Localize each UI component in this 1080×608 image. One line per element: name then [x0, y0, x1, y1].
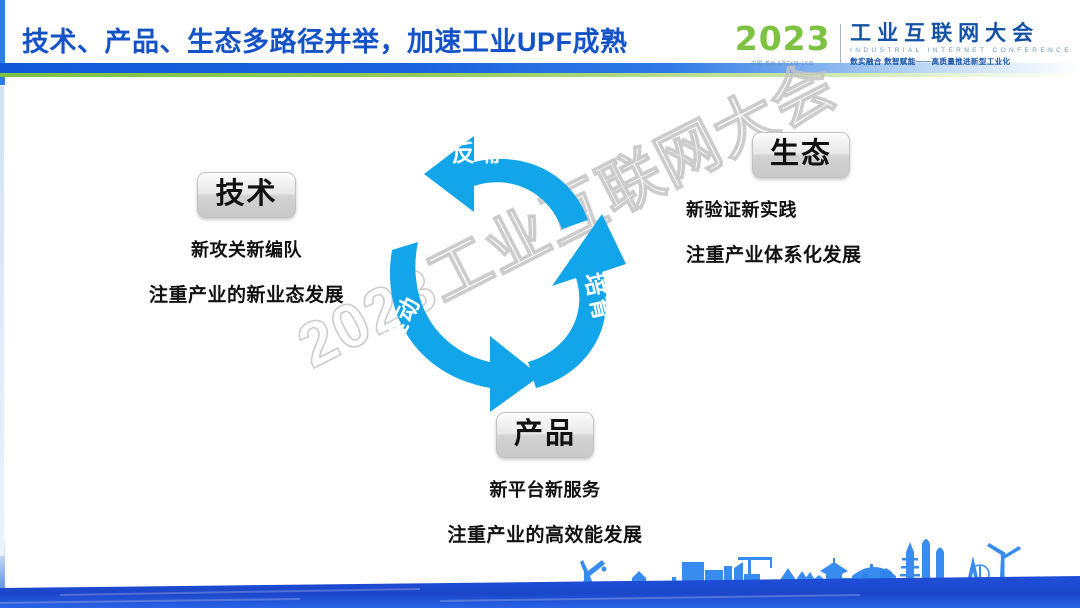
- conference-logo: 2023 中国·苏州 9月1X日-1X日 工业互联网大会 INDUSTRIAL …: [735, 22, 1072, 68]
- logo-slogan: 数实融合 数智赋能——高质量推进新型工业化: [850, 56, 1072, 67]
- footer-water-band: [0, 576, 1080, 608]
- logo-year: 2023: [735, 22, 831, 55]
- pillar-product: 产品 新平台新服务 注重产业的高效能发展: [420, 412, 670, 547]
- logo-name-cn: 工业互联网大会: [850, 22, 1072, 46]
- header-rule-green: [0, 73, 1080, 77]
- logo-date: 中国·苏州 9月1X日-1X日: [735, 60, 831, 67]
- pillar-technology-line1: 新攻关新编队: [124, 236, 369, 262]
- pillar-ecology-line2: 注重产业体系化发展: [686, 240, 986, 267]
- pillar-ecology-chip-wrap: 生态: [686, 132, 916, 178]
- cycle-diagram: 反哺 推动 培育: [370, 110, 660, 430]
- page-title: 技术、产品、生态多路径并举，加速工业UPF成熟: [22, 20, 628, 59]
- pillar-technology-chip: 技术: [197, 172, 295, 218]
- logo-year-block: 2023 中国·苏州 9月1X日-1X日: [735, 22, 840, 67]
- footer-skyline: [0, 530, 1080, 608]
- left-edge-strip-secondary: [0, 86, 4, 556]
- logo-name-en: INDUSTRIAL INTERNET CONFERENCE: [850, 47, 1072, 54]
- cycle-arrows-svg: [370, 110, 660, 430]
- arrow-feedback-shape: [424, 136, 588, 229]
- arrow-label-feedback: 反哺: [452, 134, 502, 168]
- pillar-product-chip-wrap: 产品: [420, 412, 670, 458]
- footer-skyline-svg: [0, 530, 1080, 608]
- slide-canvas: 技术、产品、生态多路径并举，加速工业UPF成熟 2023 中国·苏州 9月1X日…: [0, 0, 1080, 608]
- pillar-technology-line2: 注重产业的新业态发展: [124, 280, 369, 307]
- pillar-ecology: 生态 新验证新实践 注重产业体系化发展: [686, 132, 986, 267]
- pillar-ecology-line1: 新验证新实践: [686, 196, 986, 222]
- pillar-ecology-chip: 生态: [752, 132, 850, 178]
- pillar-product-line1: 新平台新服务: [420, 476, 670, 502]
- logo-name-block: 工业互联网大会 INDUSTRIAL INTERNET CONFERENCE 数…: [841, 22, 1072, 67]
- pillar-product-chip: 产品: [496, 412, 594, 458]
- slide-header: 技术、产品、生态多路径并举，加速工业UPF成熟 2023 中国·苏州 9月1X日…: [0, 0, 1080, 88]
- pillar-technology: 技术 新攻关新编队 注重产业的新业态发展: [124, 172, 369, 307]
- pillar-technology-chip-wrap: 技术: [124, 172, 369, 218]
